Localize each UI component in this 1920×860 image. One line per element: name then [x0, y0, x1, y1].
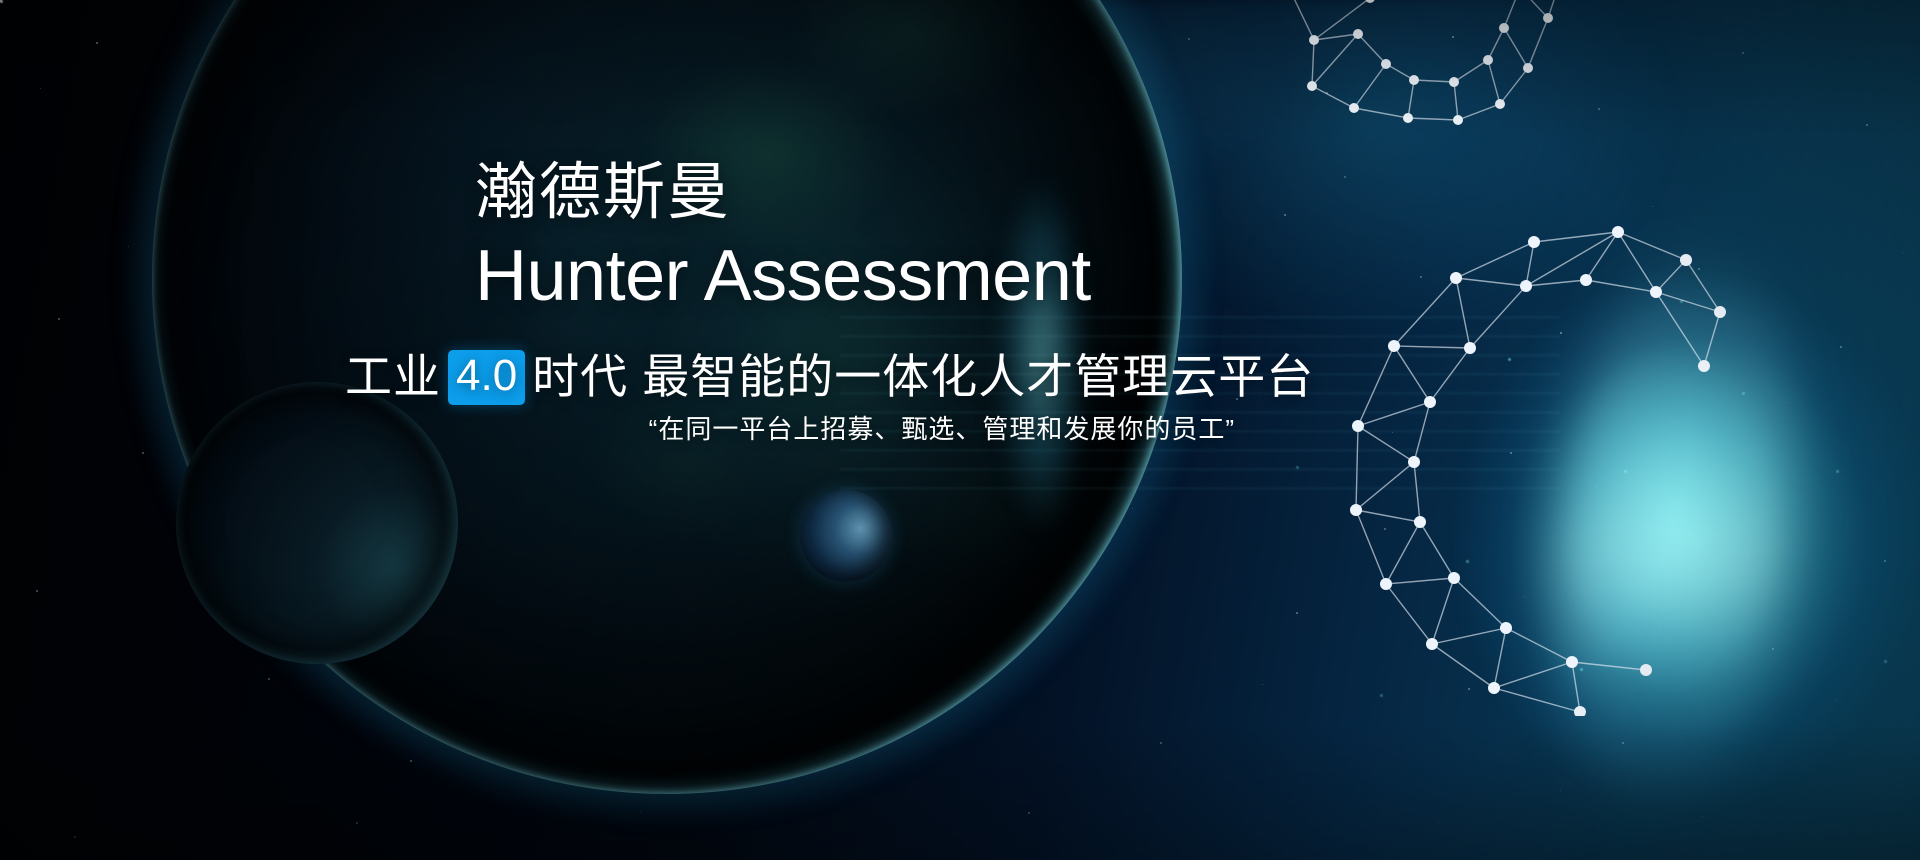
- tagline-prefix: 工业: [345, 348, 441, 406]
- hero-subtitle-quote: “在同一平台上招募、甄选、管理和发展你的员工”: [345, 412, 1235, 446]
- title-block: 瀚德斯曼 Hunter Assessment: [475, 158, 1435, 320]
- industry-version-badge: 4.0: [448, 350, 525, 405]
- brand-title-chinese: 瀚德斯曼: [475, 158, 1435, 228]
- hero-banner: 瀚德斯曼 Hunter Assessment 工业 4.0 时代 最智能的一体化…: [0, 0, 1920, 860]
- tagline-suffix: 时代 最智能的一体化人才管理云平台: [532, 348, 1314, 406]
- tagline: 工业 4.0 时代 最智能的一体化人才管理云平台: [345, 348, 1235, 406]
- brand-title-english: Hunter Assessment: [475, 232, 1435, 320]
- hero-content: 瀚德斯曼 Hunter Assessment 工业 4.0 时代 最智能的一体化…: [0, 0, 1920, 860]
